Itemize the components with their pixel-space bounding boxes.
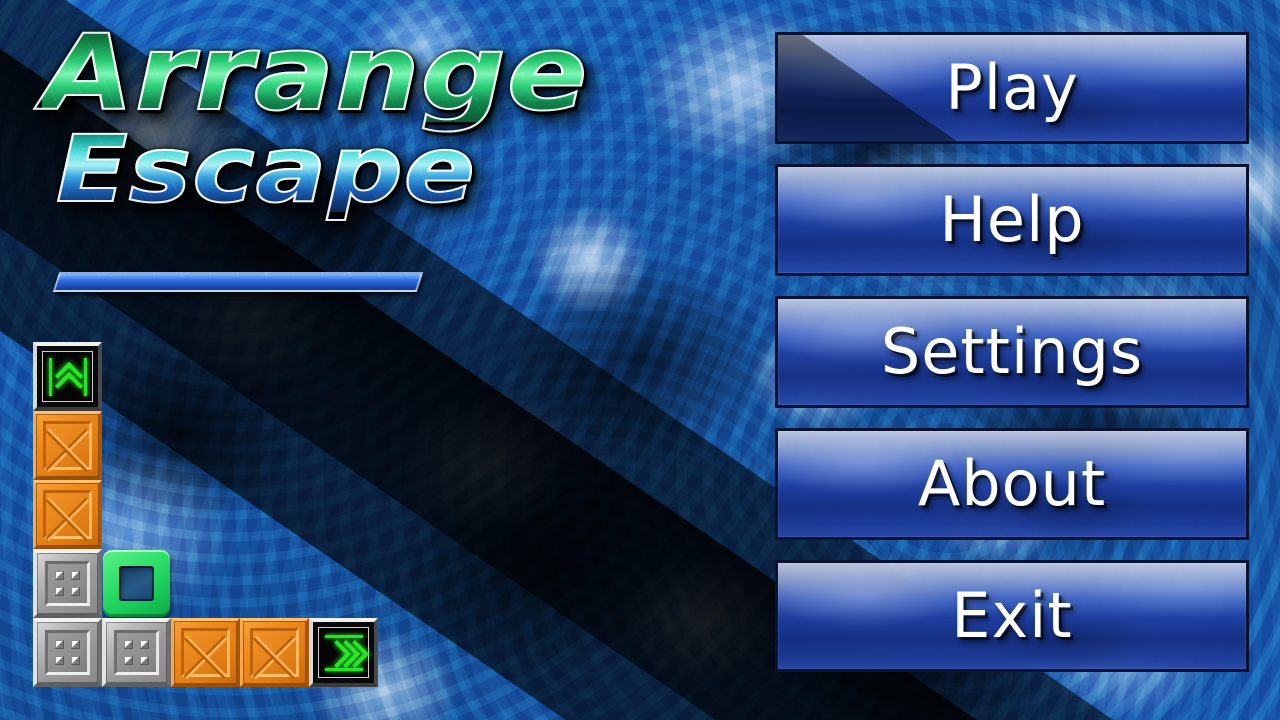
tile-arrow-right bbox=[309, 618, 378, 687]
tile-block bbox=[33, 549, 102, 618]
main-menu: Play Help Settings About Exit bbox=[775, 32, 1249, 692]
tile-crate bbox=[33, 480, 102, 549]
tile-crate bbox=[171, 618, 240, 687]
block-dot bbox=[140, 656, 149, 665]
block-inner-bevel bbox=[114, 630, 159, 675]
block-dot bbox=[124, 640, 133, 649]
block-inner-bevel bbox=[45, 561, 90, 606]
help-button-label: Help bbox=[939, 189, 1084, 251]
rail-top bbox=[325, 635, 363, 638]
exit-button-label: Exit bbox=[951, 585, 1072, 647]
about-button-label: About bbox=[918, 453, 1106, 515]
game-main-menu-screen: Arrange Escape bbox=[0, 0, 1280, 720]
help-button[interactable]: Help bbox=[775, 164, 1249, 276]
exit-button[interactable]: Exit bbox=[775, 560, 1249, 672]
block-dot bbox=[124, 656, 133, 665]
settings-button-label: Settings bbox=[881, 321, 1143, 383]
block-dot bbox=[55, 587, 64, 596]
block-dot bbox=[71, 571, 80, 580]
block-dot bbox=[71, 656, 80, 665]
block-dot bbox=[55, 656, 64, 665]
arrow-panel bbox=[42, 351, 93, 402]
play-button-label: Play bbox=[945, 57, 1078, 119]
rail-bottom bbox=[325, 668, 363, 671]
tile-crate bbox=[33, 411, 102, 480]
tile-block bbox=[33, 618, 102, 687]
crate-inner-bevel bbox=[43, 490, 92, 539]
crate-inner-bevel bbox=[181, 628, 230, 677]
block-dot bbox=[71, 640, 80, 649]
chevron-group bbox=[323, 632, 365, 674]
play-button[interactable]: Play bbox=[775, 32, 1249, 144]
chevron-group bbox=[47, 356, 89, 398]
block-dot bbox=[55, 571, 64, 580]
tile-block bbox=[102, 618, 171, 687]
settings-button[interactable]: Settings bbox=[775, 296, 1249, 408]
about-button[interactable]: About bbox=[775, 428, 1249, 540]
arrow-panel bbox=[318, 627, 369, 678]
block-inner-bevel bbox=[45, 630, 90, 675]
rail-right bbox=[84, 358, 87, 396]
block-dot bbox=[71, 587, 80, 596]
decorative-tile-board bbox=[33, 342, 383, 692]
block-dot bbox=[55, 640, 64, 649]
crate-inner-bevel bbox=[250, 628, 299, 677]
tile-goal bbox=[102, 549, 171, 618]
goal-hole bbox=[119, 566, 154, 601]
tile-crate bbox=[240, 618, 309, 687]
crate-inner-bevel bbox=[43, 421, 92, 470]
block-dot bbox=[140, 640, 149, 649]
tile-arrow-up bbox=[33, 342, 102, 411]
rail-left bbox=[49, 358, 52, 396]
